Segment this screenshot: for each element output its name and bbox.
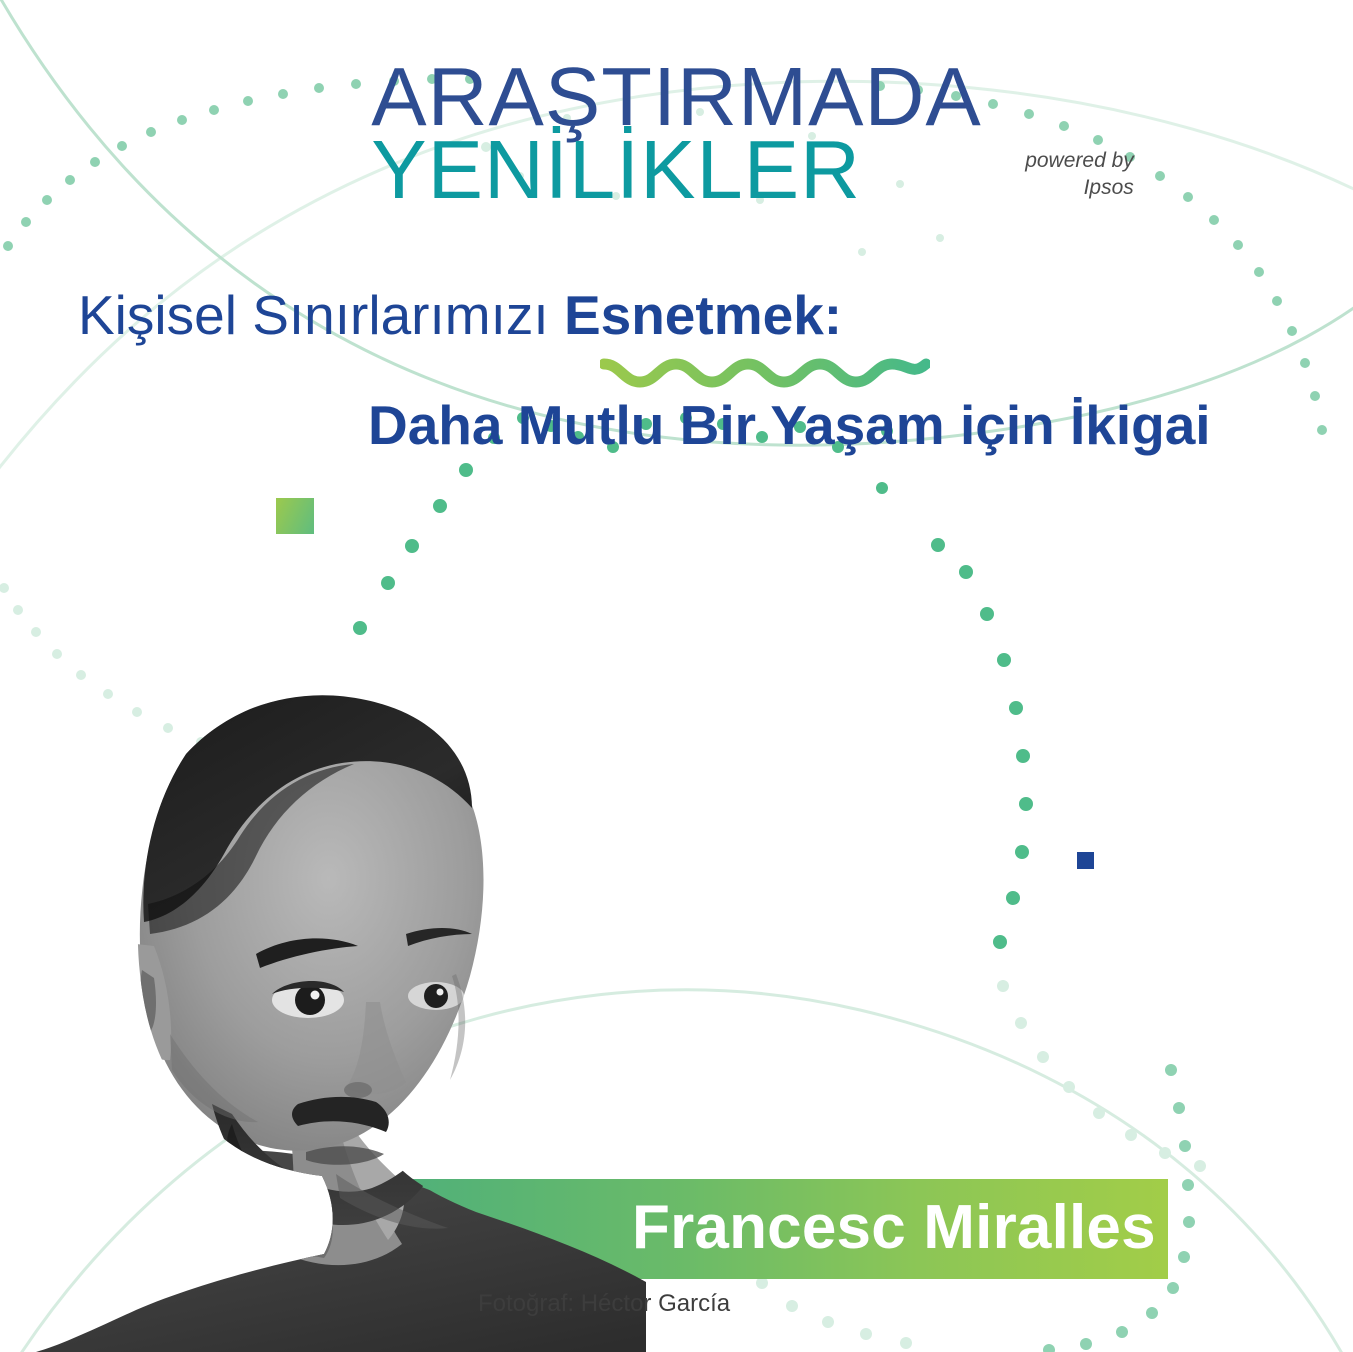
powered-by-brand: Ipsos: [994, 175, 1134, 202]
headline-bold-part: Esnetmek:: [564, 284, 842, 346]
speaker-portrait: [36, 604, 646, 1352]
headline-block: Kişisel Sınırlarımızı Esnetmek: Daha Mut…: [0, 288, 1353, 453]
photo-credit: Fotoğraf: Héctor García: [478, 1290, 730, 1318]
speaker-name: Francesc Miralles: [632, 1192, 1156, 1263]
green-square-accent: [276, 498, 314, 534]
headline-row-1: Kişisel Sınırlarımızı Esnetmek:: [0, 288, 1353, 343]
event-logo: ARAŞTIRMADA YENİLİKLER powered by Ipsos: [0, 58, 1353, 210]
navy-square-accent: [1077, 852, 1094, 869]
headline-row-2: Daha Mutlu Bir Yaşam için İkigai: [0, 398, 1353, 453]
powered-by-label: powered by: [994, 148, 1134, 175]
squiggle-underline-icon: [600, 350, 930, 388]
poster-canvas: ARAŞTIRMADA YENİLİKLER powered by Ipsos …: [0, 0, 1353, 1352]
powered-by-block: powered by Ipsos: [994, 148, 1134, 202]
headline-light-part: Kişisel Sınırlarımızı: [78, 284, 564, 346]
